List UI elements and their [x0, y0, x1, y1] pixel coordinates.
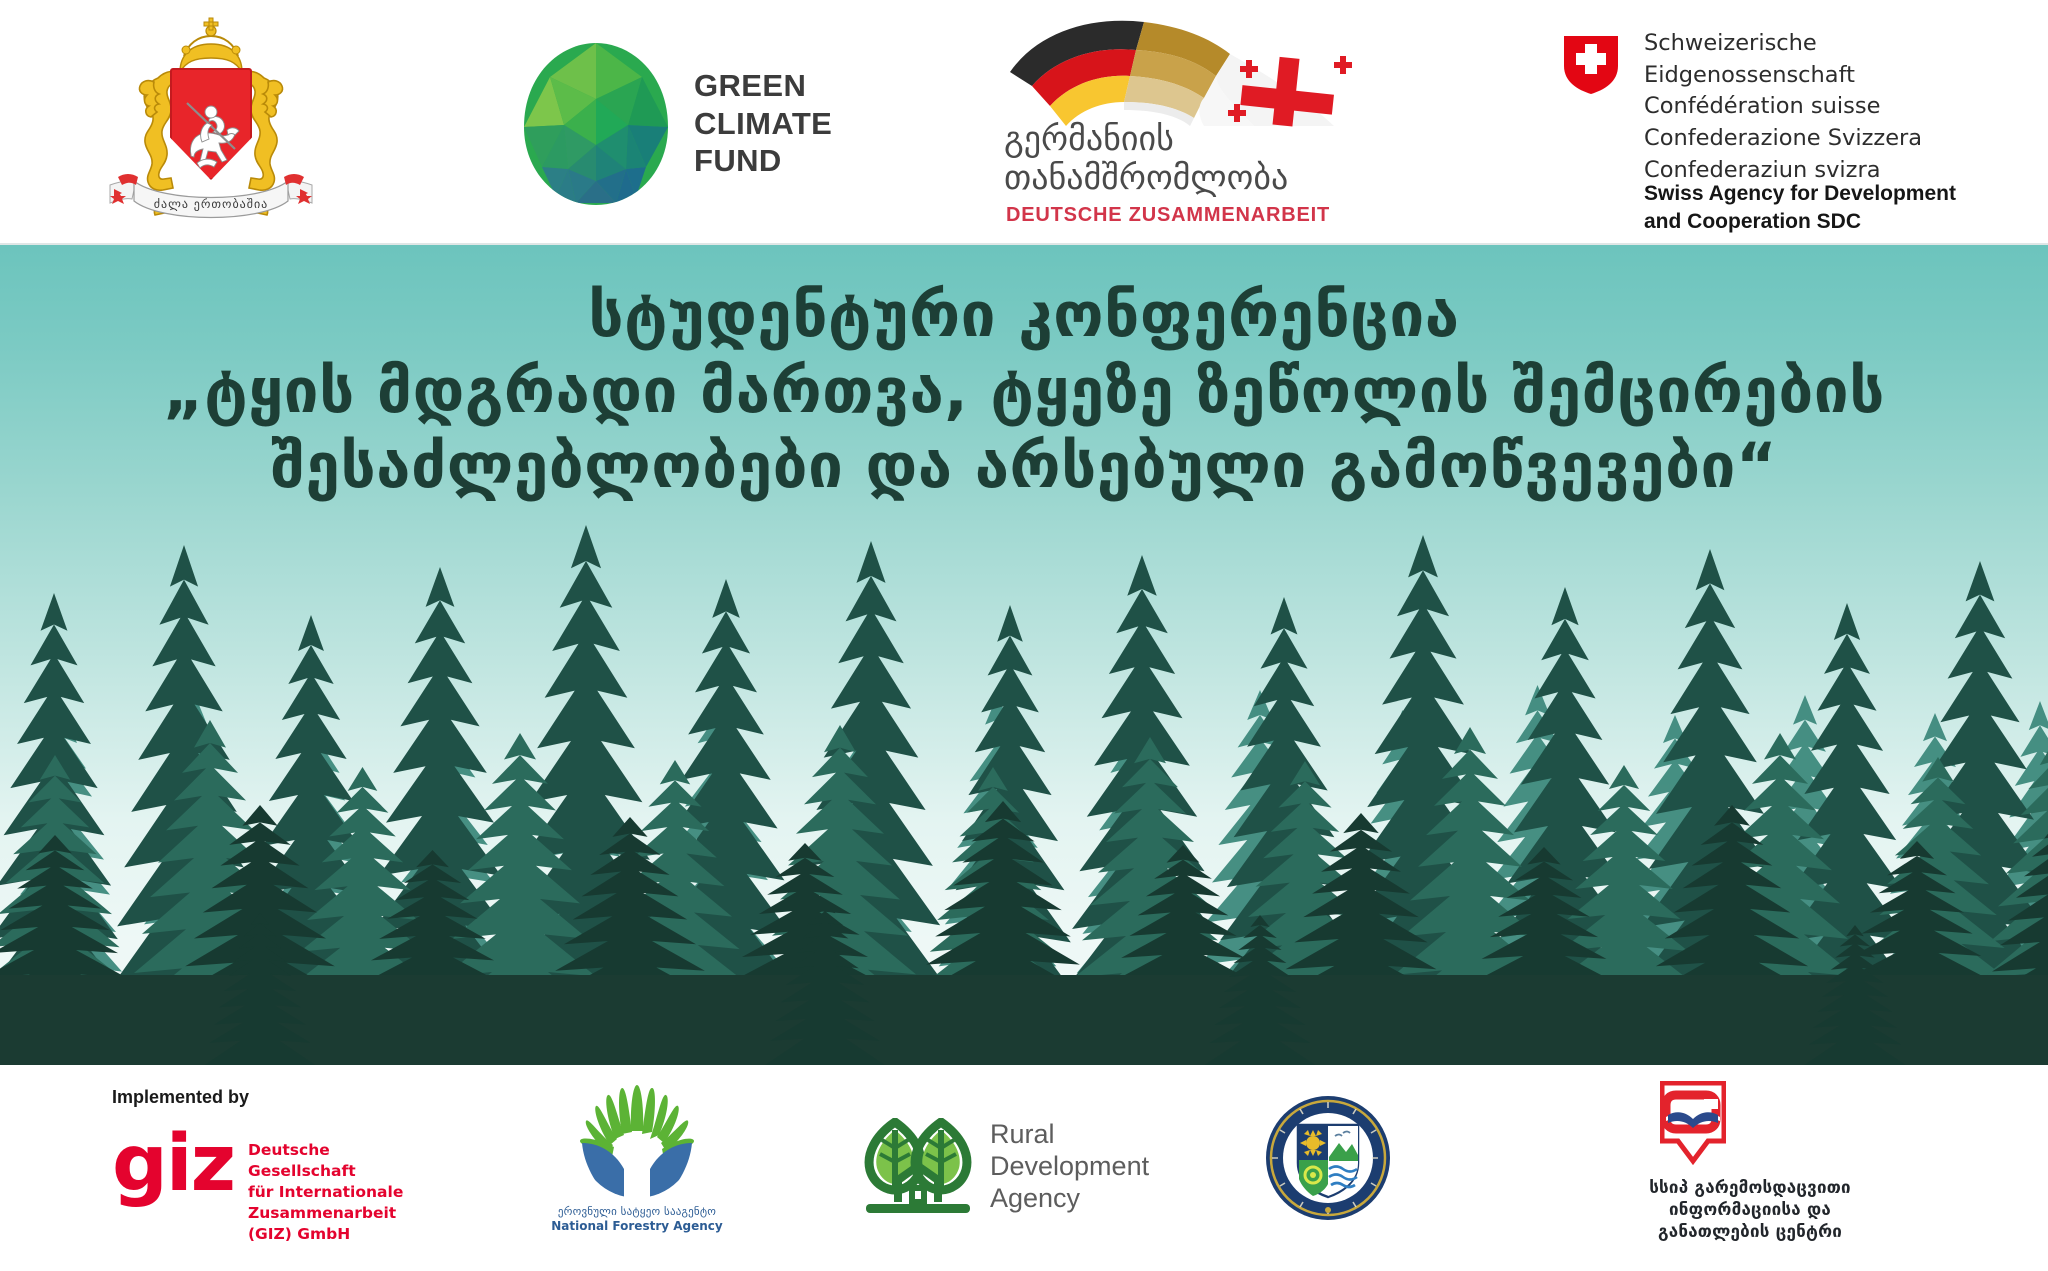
- partner-logo-bar: Implemented by giz Deutsche Gesellschaft…: [0, 1065, 2048, 1271]
- swiss-sdc-logo: Schweizerische Eidgenossenschaft Confédé…: [1562, 28, 1982, 228]
- forest-silhouette-illustration: [0, 505, 2048, 1065]
- german-cooperation-geo-line-2: თანამშრომლობა: [1004, 159, 1324, 198]
- gcf-line-2: CLIMATE: [694, 105, 832, 143]
- title-line-2: „ტყის მდგრადი მართვა, ტყეზე ზეწოლის შემც…: [60, 353, 1988, 429]
- eiec-line-2: ინფორმაციისა და: [1600, 1199, 1900, 1221]
- giz-wordmark: giz: [112, 1134, 234, 1195]
- eiec-line-3: განათლების ცენტრი: [1600, 1221, 1900, 1243]
- nfa-english-name: National Forestry Agency: [542, 1219, 732, 1235]
- swiss-lang-fr: Confédération suisse: [1644, 91, 1982, 123]
- title-line-3: შესაძლებლობები და არსებული გამოწვევები“: [60, 428, 1988, 504]
- national-forestry-agency-logo: ეროვნული სატყეო სააგენტო National Forest…: [542, 1081, 732, 1261]
- swiss-confederation-languages: Schweizerische Eidgenossenschaft Confédé…: [1644, 28, 1982, 187]
- two-trees-house-icon: [862, 1118, 974, 1216]
- rural-development-agency-logo: Rural Development Agency: [862, 1107, 1192, 1227]
- environmental-supervision-logo: [1265, 1095, 1391, 1221]
- giz-name-line-3: Zusammenarbeit (GIZ) GmbH: [248, 1203, 432, 1245]
- page-title: სტუდენტური კონფერენცია „ტყის მდგრადი მარ…: [0, 277, 2048, 504]
- giz-name-line-2: für Internationale: [248, 1182, 432, 1203]
- forest-floor: [0, 975, 2048, 1065]
- rda-line-2: Development: [990, 1151, 1149, 1183]
- giz-name-line-1: Deutsche Gesellschaft: [248, 1140, 432, 1182]
- book-shield-icon: [1660, 1081, 1726, 1165]
- german-cooperation-logo: გერმანიის თანამშრომლობა DEUTSCHE ZUSAMME…: [990, 8, 1390, 233]
- swiss-cross-shield-icon: [1562, 34, 1620, 96]
- tree-in-circle-icon: [578, 1081, 696, 1199]
- donor-logo-bar: ძალა ერთობაშია: [0, 0, 2048, 245]
- eiec-name: სსიპ გარემოსდაცვითი ინფორმაციისა და განა…: [1600, 1177, 1900, 1243]
- giz-full-name: Deutsche Gesellschaft für Internationale…: [248, 1140, 432, 1245]
- hero-section: სტუდენტური კონფერენცია „ტყის მდგრადი მარ…: [0, 245, 2048, 1065]
- deutsche-zusammenarbeit-text: DEUTSCHE ZUSAMMENARBEIT: [1006, 204, 1330, 227]
- conference-banner: ძალა ერთობაშია: [0, 0, 2048, 1271]
- german-georgian-flag-ribbon-icon: [1004, 14, 1384, 136]
- saint-george-rider-icon: [179, 97, 243, 175]
- georgia-coat-of-arms-logo: ძალა ერთობაშია: [96, 16, 326, 231]
- gcf-line-1: GREEN: [694, 67, 832, 105]
- environmental-info-education-center-logo: სსიპ გარემოსდაცვითი ინფორმაციისა და განა…: [1600, 1081, 1900, 1243]
- swiss-lang-de: Schweizerische Eidgenossenschaft: [1644, 28, 1982, 91]
- giz-logo: Implemented by giz Deutsche Gesellschaft…: [112, 1087, 432, 1247]
- german-cooperation-geo-line-1: გერმანიის: [1004, 120, 1324, 159]
- rda-wordmark: Rural Development Agency: [990, 1119, 1149, 1215]
- rda-line-3: Agency: [990, 1183, 1149, 1215]
- coat-of-arms-graphic: ძალა ერთობაშია: [96, 16, 326, 231]
- swiss-agency-name: Swiss Agency for Development and Coopera…: [1644, 180, 1956, 236]
- swiss-lang-it: Confederazione Svizzera: [1644, 123, 1982, 155]
- nfa-georgian-name: ეროვნული სატყეო სააგენტო: [542, 1205, 732, 1219]
- gcf-wordmark: GREEN CLIMATE FUND: [694, 67, 832, 180]
- swiss-agency-line-2: and Cooperation SDC: [1644, 208, 1956, 236]
- swiss-agency-line-1: Swiss Agency for Development: [1644, 180, 1956, 208]
- title-line-1: სტუდენტური კონფერენცია: [60, 277, 1988, 353]
- coat-of-arms-motto: ძალა ერთობაშია: [96, 197, 326, 211]
- implemented-by-label: Implemented by: [112, 1087, 432, 1108]
- motto-ribbon: [104, 167, 318, 223]
- green-climate-fund-logo: GREEN CLIMATE FUND: [520, 36, 820, 211]
- eiec-line-1: სსიპ გარემოსდაცვითი: [1600, 1177, 1900, 1199]
- gcf-faceted-sphere-icon: [520, 41, 672, 207]
- gcf-line-3: FUND: [694, 142, 832, 180]
- german-cooperation-georgian-text: გერმანიის თანამშრომლობა: [1004, 120, 1324, 199]
- environmental-supervision-seal-icon: [1265, 1095, 1391, 1221]
- rda-line-1: Rural: [990, 1119, 1149, 1151]
